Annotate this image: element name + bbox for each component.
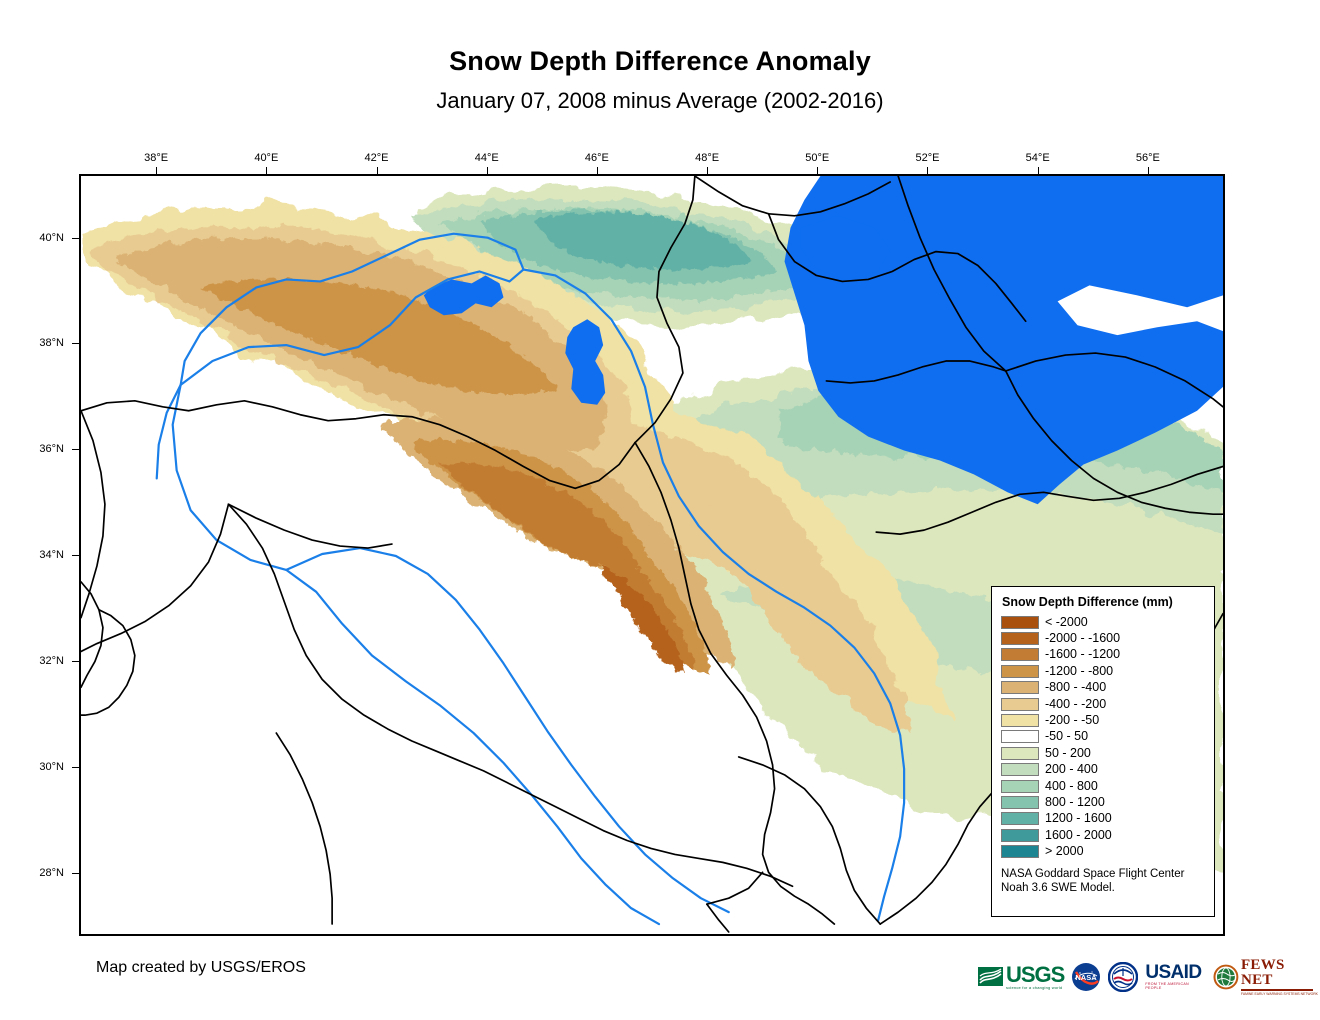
usaid-logo[interactable]: USAID FROM THE AMERICAN PEOPLE [1145, 960, 1206, 994]
legend-swatch [1001, 812, 1039, 825]
map-credit: Map created by USGS/EROS [96, 959, 306, 977]
latitude-tick [72, 343, 79, 344]
longitude-tick [1038, 167, 1039, 174]
legend-swatch [1001, 616, 1039, 629]
legend-label: -200 - -50 [1045, 714, 1099, 727]
legend-label: -1200 - -800 [1045, 665, 1113, 678]
svg-text:NASA: NASA [1076, 973, 1098, 982]
usaid-tagline: FROM THE AMERICAN PEOPLE [1145, 982, 1206, 990]
longitude-tick [707, 167, 708, 174]
legend-row: -200 - -50 [1001, 712, 1205, 728]
legend-row: < -2000 [1001, 614, 1205, 630]
longitude-tick-label: 52°E [915, 152, 939, 164]
legend-swatch [1001, 648, 1039, 661]
legend-entries: < -2000-2000 - -1600-1600 - -1200-1200 -… [1001, 614, 1205, 860]
page-subtitle: January 07, 2008 minus Average (2002-201… [0, 76, 1320, 114]
legend-label: 50 - 200 [1045, 747, 1091, 760]
page-title: Snow Depth Difference Anomaly [0, 0, 1320, 76]
fewsnet-logo[interactable]: FEWS NET FAMINE EARLY WARNING SYSTEMS NE… [1213, 960, 1320, 994]
legend-row: -800 - -400 [1001, 680, 1205, 696]
latitude-tick [72, 661, 79, 662]
legend-label: -1600 - -1200 [1045, 648, 1120, 661]
latitude-tick-label: 34°N [39, 549, 64, 561]
legend-swatch [1001, 763, 1039, 776]
longitude-tick-label: 50°E [805, 152, 829, 164]
legend-label: < -2000 [1045, 616, 1088, 629]
latitude-tick-label: 32°N [39, 655, 64, 667]
longitude-tick-label: 56°E [1136, 152, 1160, 164]
longitude-tick-label: 48°E [695, 152, 719, 164]
latitude-tick-label: 28°N [39, 867, 64, 879]
latitude-tick [72, 449, 79, 450]
latitude-tick [72, 767, 79, 768]
legend-label: 400 - 800 [1045, 780, 1098, 793]
agency-logo-bar: USGS science for a changing world NASA U… [978, 958, 1320, 996]
longitude-tick [1148, 167, 1149, 174]
legend-row: 400 - 800 [1001, 778, 1205, 794]
legend-row: -50 - 50 [1001, 729, 1205, 745]
legend-row: -1600 - -1200 [1001, 647, 1205, 663]
noaa-logo[interactable] [1108, 960, 1138, 994]
legend-row: 1600 - 2000 [1001, 827, 1205, 843]
longitude-tick-label: 40°E [254, 152, 278, 164]
legend-label: -50 - 50 [1045, 730, 1088, 743]
legend-row: 800 - 1200 [1001, 794, 1205, 810]
longitude-tick [266, 167, 267, 174]
usgs-wordmark: USGS [1006, 965, 1064, 985]
longitude-tick [817, 167, 818, 174]
longitude-tick-label: 38°E [144, 152, 168, 164]
nasa-logo[interactable]: NASA [1071, 960, 1101, 994]
legend-label: -2000 - -1600 [1045, 632, 1120, 645]
fewsnet-globe-icon [1213, 964, 1239, 990]
latitude-tick [72, 238, 79, 239]
legend-swatch [1001, 681, 1039, 694]
fewsnet-tagline: FAMINE EARLY WARNING SYSTEMS NETWORK [1241, 992, 1320, 996]
legend-swatch [1001, 796, 1039, 809]
legend-row: 50 - 200 [1001, 745, 1205, 761]
noaa-seal-icon [1108, 962, 1138, 992]
legend-row: 1200 - 1600 [1001, 811, 1205, 827]
usgs-logo[interactable]: USGS science for a changing world [978, 960, 1064, 994]
legend-label: -400 - -200 [1045, 698, 1106, 711]
longitude-tick [927, 167, 928, 174]
title-block: Snow Depth Difference Anomaly January 07… [0, 0, 1320, 114]
longitude-tick [377, 167, 378, 174]
legend-label: 800 - 1200 [1045, 796, 1105, 809]
legend-swatch [1001, 829, 1039, 842]
legend-swatch [1001, 845, 1039, 858]
legend-row: 200 - 400 [1001, 762, 1205, 778]
legend-label: 1200 - 1600 [1045, 812, 1112, 825]
legend-swatch [1001, 632, 1039, 645]
legend-swatch [1001, 714, 1039, 727]
nasa-meatball-icon: NASA [1071, 962, 1101, 992]
longitude-tick [156, 167, 157, 174]
legend-label: -800 - -400 [1045, 681, 1106, 694]
legend-label: 1600 - 2000 [1045, 829, 1112, 842]
legend-source-note: NASA Goddard Space Flight Center Noah 3.… [1001, 867, 1205, 896]
legend-swatch [1001, 730, 1039, 743]
latitude-tick-label: 30°N [39, 761, 64, 773]
legend-swatch [1001, 698, 1039, 711]
longitude-tick [487, 167, 488, 174]
latitude-tick-label: 40°N [39, 232, 64, 244]
longitude-tick-label: 44°E [475, 152, 499, 164]
usgs-tagline: science for a changing world [1006, 985, 1064, 990]
legend-label: 200 - 400 [1045, 763, 1098, 776]
longitude-tick-label: 42°E [365, 152, 389, 164]
latitude-tick [72, 555, 79, 556]
longitude-tick-label: 54°E [1026, 152, 1050, 164]
legend-row: -400 - -200 [1001, 696, 1205, 712]
usgs-mark-icon [978, 966, 1004, 988]
fewsnet-rule [1241, 989, 1313, 990]
legend-swatch [1001, 780, 1039, 793]
legend-row: -1200 - -800 [1001, 663, 1205, 679]
legend-label: > 2000 [1045, 845, 1084, 858]
map-legend: Snow Depth Difference (mm) < -2000-2000 … [991, 586, 1215, 917]
latitude-tick-label: 38°N [39, 337, 64, 349]
latitude-tick-label: 36°N [39, 443, 64, 455]
usaid-wordmark: USAID [1145, 964, 1206, 982]
longitude-tick-label: 46°E [585, 152, 609, 164]
longitude-tick [597, 167, 598, 174]
latitude-tick [72, 873, 79, 874]
fewsnet-wordmark: FEWS NET [1241, 958, 1320, 988]
legend-swatch [1001, 665, 1039, 678]
legend-swatch [1001, 747, 1039, 760]
legend-title: Snow Depth Difference (mm) [1002, 595, 1205, 610]
legend-row: > 2000 [1001, 843, 1205, 859]
legend-row: -2000 - -1600 [1001, 630, 1205, 646]
